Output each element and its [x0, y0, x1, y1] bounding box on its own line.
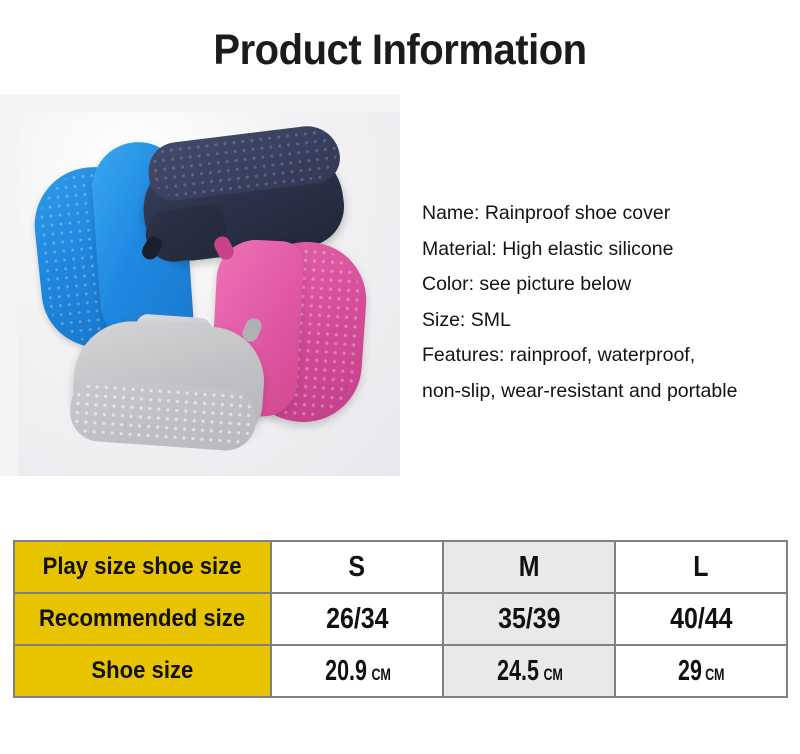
spec-line-features: Features: rainproof, waterproof, — [422, 338, 794, 374]
cell-size-l: L — [615, 541, 787, 593]
table-row: Recommended size 26/34 35/39 40/44 — [14, 593, 787, 645]
row-label-shoe-size: Shoe size — [14, 645, 271, 697]
cell-value: L — [693, 551, 708, 584]
cell-unit: CM — [705, 665, 724, 685]
cell-shoe-size-l: 29CM — [615, 645, 787, 697]
row-label-text: Play size shoe size — [43, 553, 242, 581]
cell-value: 20.9CM — [322, 655, 393, 688]
product-spec-list: Name: Rainproof shoe cover Material: Hig… — [422, 196, 794, 410]
spec-line-size: Size: SML — [422, 303, 794, 339]
cell-number: 29 — [678, 655, 702, 688]
product-photo — [18, 112, 400, 476]
spec-line-name: Name: Rainproof shoe cover — [422, 196, 794, 232]
cell-value: S — [349, 551, 366, 584]
cell-value: M — [519, 551, 540, 584]
spec-line-material: Material: High elastic silicone — [422, 232, 794, 268]
table-row: Shoe size 20.9CM 24.5CM 29CM — [14, 645, 787, 697]
row-label-text: Recommended size — [39, 605, 245, 633]
cell-recommended-m: 35/39 — [443, 593, 615, 645]
cell-size-s: S — [271, 541, 443, 593]
cell-unit: CM — [372, 665, 391, 685]
cell-value: 29CM — [676, 655, 726, 688]
row-label-play-size: Play size shoe size — [14, 541, 271, 593]
cell-recommended-s: 26/34 — [271, 593, 443, 645]
cell-unit: CM — [544, 665, 563, 685]
table-row: Play size shoe size S M L — [14, 541, 787, 593]
cell-value: 35/39 — [498, 603, 560, 636]
size-chart-table: Play size shoe size S M L Recommended si… — [13, 540, 788, 698]
row-label-text: Shoe size — [92, 657, 194, 685]
product-photo-panel — [0, 94, 400, 476]
spec-line-features-cont: non-slip, wear-resistant and portable — [422, 374, 794, 410]
cell-number: 20.9 — [325, 655, 367, 688]
cell-shoe-size-m: 24.5CM — [443, 645, 615, 697]
cell-value: 26/34 — [326, 603, 388, 636]
cell-value: 24.5CM — [494, 655, 565, 688]
cell-number: 24.5 — [497, 655, 539, 688]
cell-value: 40/44 — [670, 603, 732, 636]
cell-recommended-l: 40/44 — [615, 593, 787, 645]
cell-size-m: M — [443, 541, 615, 593]
spec-line-color: Color: see picture below — [422, 267, 794, 303]
gray-shoe-cover-sole — [68, 378, 258, 453]
page-title: Product Information — [28, 28, 772, 73]
cell-shoe-size-s: 20.9CM — [271, 645, 443, 697]
row-label-recommended-size: Recommended size — [14, 593, 271, 645]
